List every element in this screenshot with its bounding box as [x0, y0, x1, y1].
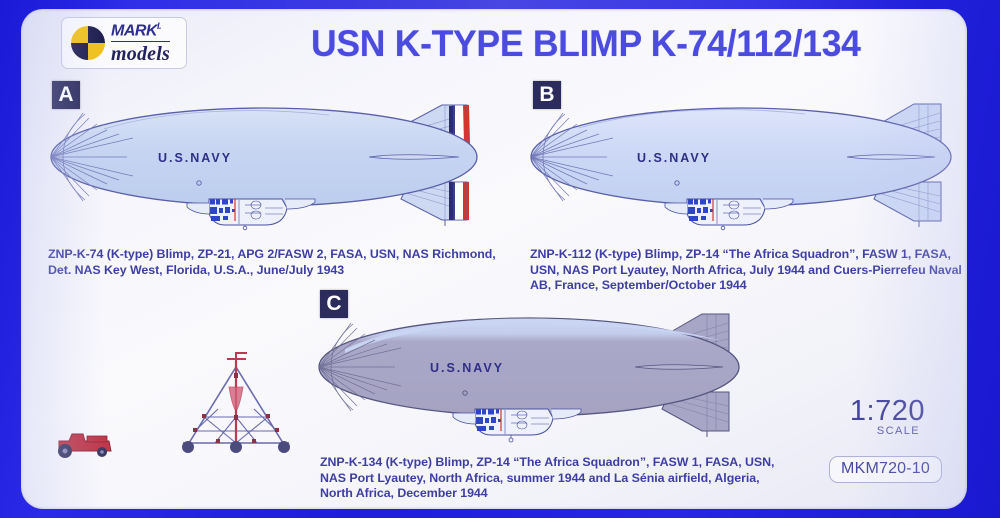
rudder-stripes-lower: [449, 182, 469, 220]
brand-logo-text: MARKI. models: [111, 22, 170, 63]
scale-label: SCALE: [877, 425, 920, 437]
ground-tow-tractor: [49, 427, 119, 459]
control-car-a: [187, 199, 315, 230]
brand-line-1: MARKI.: [111, 22, 170, 41]
page-title: USN K-TYPE BLIMP K-74/112/134: [311, 23, 945, 65]
caption-a: ZNP-K-74 (K-type) Blimp, ZP-21, APG 2/FA…: [48, 247, 518, 278]
caption-c: ZNP-K-134 (K-type) Blimp, ZP-14 “The Afr…: [320, 455, 790, 502]
box-art-frame: MARKI. models USN K-TYPE BLIMP K-74/112/…: [0, 0, 1000, 518]
instruction-sheet: MARKI. models USN K-TYPE BLIMP K-74/112/…: [21, 9, 967, 509]
caption-b: ZNP-K-112 (K-type) Blimp, ZP-14 “The Afr…: [530, 247, 967, 294]
scale-value: 1:720: [850, 395, 925, 428]
brand-line-2: models: [111, 44, 170, 64]
brand-logo: MARKI. models: [61, 17, 187, 69]
control-car-c: [453, 409, 581, 442]
blimp-profile-c: U.S.NAVY: [317, 297, 777, 455]
product-code: MKM720-10: [829, 456, 942, 483]
mooring-mast: [171, 349, 301, 454]
hull-label-a: U.S.NAVY: [158, 151, 232, 165]
mark-i-quadrant-circle-icon: [71, 26, 105, 60]
control-car-b: [665, 199, 793, 230]
hull-label-c: U.S.NAVY: [430, 361, 504, 375]
hull-label-b: U.S.NAVY: [637, 151, 711, 165]
blimp-profile-a: U.S.NAVY: [49, 87, 519, 242]
blimp-profile-b: U.S.NAVY: [529, 87, 967, 242]
